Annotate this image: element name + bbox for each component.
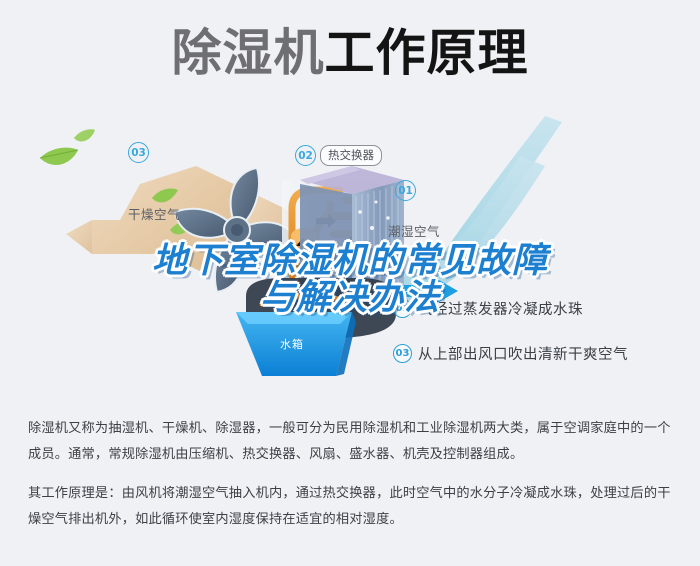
working-principle-illustration: 03 干燥空气 02 热交换器 01 潮湿空气 水箱 02 气经过蒸发器冷凝成水…: [0, 108, 700, 398]
legend-item-condense: 02 气经过蒸发器冷凝成水珠: [393, 298, 583, 319]
diagram-label-humid-air: 潮湿空气: [388, 221, 440, 240]
water-tank-label: 水箱: [280, 336, 304, 352]
article-body: 除湿机又称为抽湿机、干燥机、除湿器，一般可分为民用除湿机和工业除湿机两大类，属于…: [28, 416, 678, 533]
diagram-number-03: 03: [128, 142, 149, 163]
body-paragraph-2: 其工作原理是：由风机将潮湿空气抽入机内，通过热交换器，此时空气中的水分子冷凝成水…: [28, 481, 678, 532]
page-title: 除湿机工作原理: [0, 28, 700, 78]
diagram-number-02: 02: [295, 145, 316, 166]
diagram-number-01: 01: [395, 180, 416, 201]
page-title-black-part: 工作原理: [325, 24, 529, 82]
page-title-gray-part: 除湿机: [172, 24, 325, 82]
legend-badge-02: 02: [393, 299, 412, 318]
body-paragraph-1: 除湿机又称为抽湿机、干燥机、除湿器，一般可分为民用除湿机和工业除湿机两大类，属于…: [28, 416, 678, 467]
legend-badge-03: 03: [393, 344, 412, 363]
diagram-label-dry-air: 干燥空气: [128, 204, 180, 223]
diagram-label-heat-exchanger: 热交换器: [320, 145, 382, 166]
legend-text-outlet: 从上部出风口吹出清新干爽空气: [418, 343, 628, 364]
legend-item-outlet: 03 从上部出风口吹出清新干爽空气: [393, 343, 628, 364]
legend-text-condense: 气经过蒸发器冷凝成水珠: [418, 298, 583, 319]
dehumidifier-infographic-page: 除湿机工作原理: [0, 0, 700, 566]
